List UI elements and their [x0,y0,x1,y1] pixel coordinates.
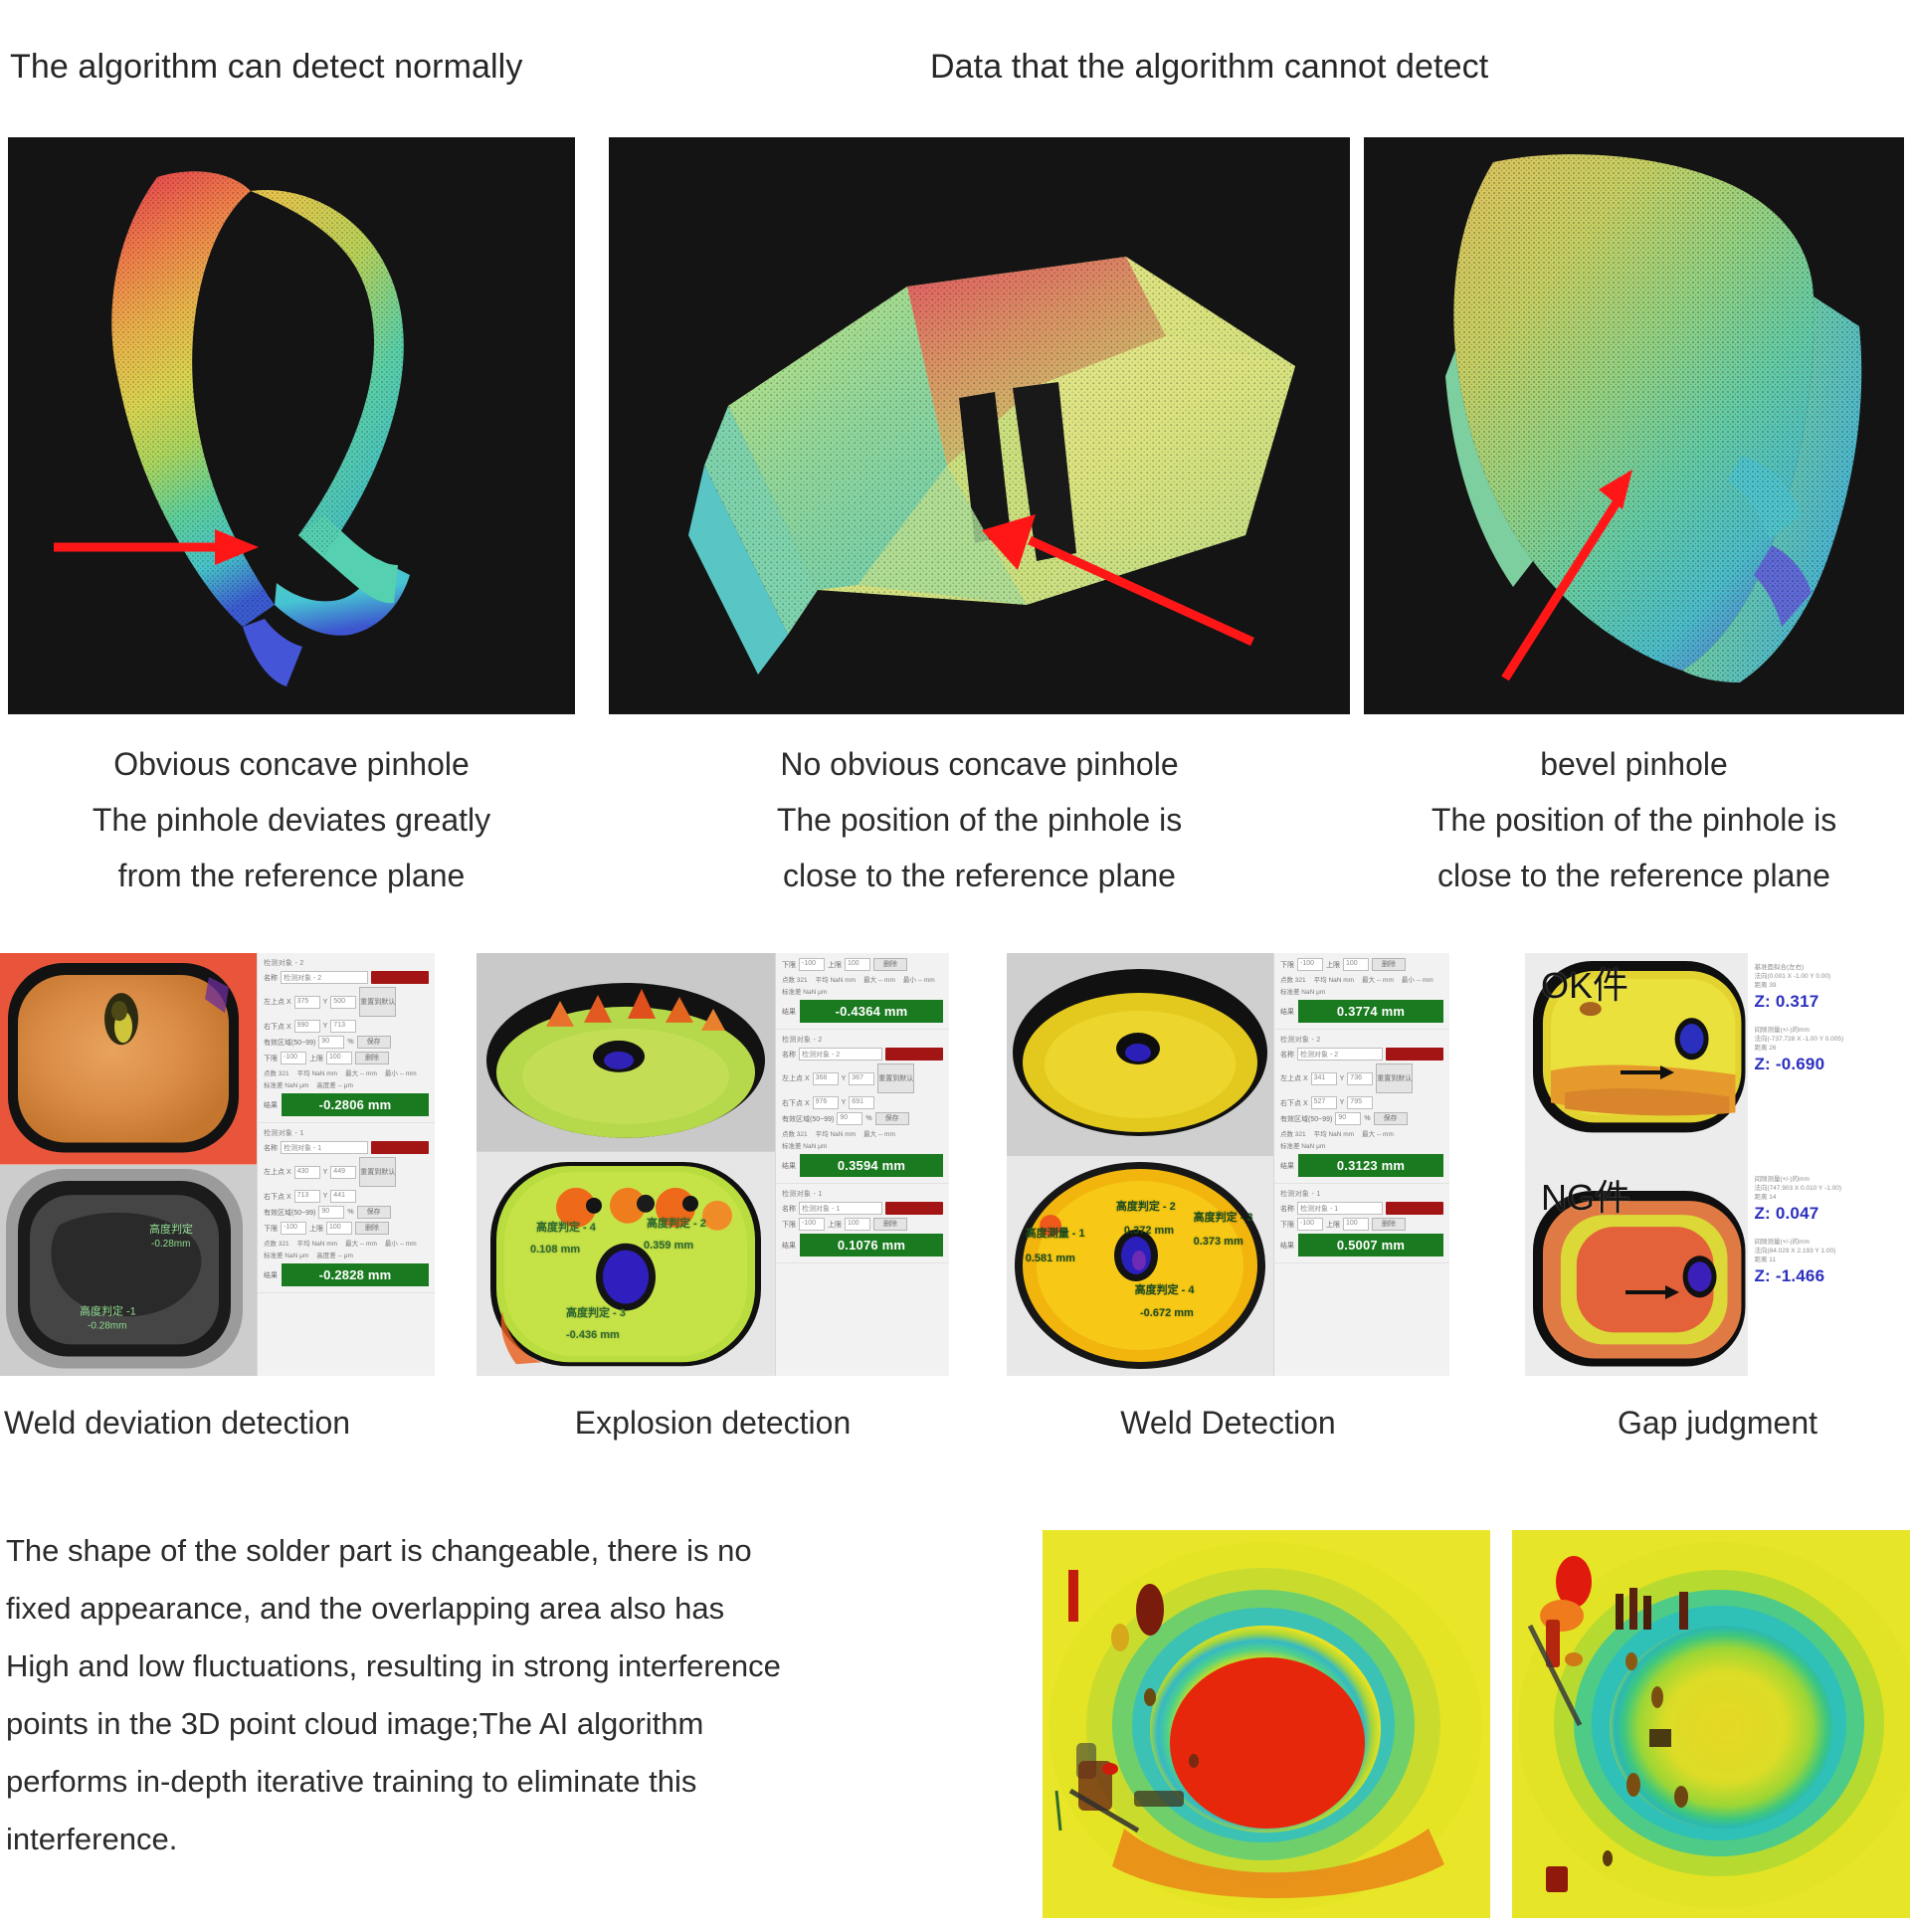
parameter-group: 下限 -100 上限 100 删除 点数 321 平均 NaN mm 最大 --… [1274,953,1449,1030]
field-label: 下限 [782,960,796,970]
weld-detection-3d-view [1007,953,1273,1156]
coord-y-input[interactable]: 367 [849,1072,874,1085]
stat: 点数 321 [264,1238,289,1248]
summary-paragraph: The shape of the solder part is changeab… [6,1522,1031,1868]
caption-weld-deviation-detection: Weld deviation detection [4,1405,439,1442]
caption-line: The position of the pinhole is [1364,792,1904,848]
gap-ng-image: NG件 [1525,1165,1748,1377]
name-input[interactable]: 检测对象 - 2 [281,971,368,984]
field-label: 名称 [782,1204,796,1214]
upper-limit-input[interactable]: 100 [1343,1218,1369,1231]
z-readout: 间隙测量(+/-)的mm 法向(747.903 X 0.010 Y -1.00)… [1754,1175,1904,1224]
upper-limit-input[interactable]: 100 [326,1052,352,1064]
reset-default-button[interactable]: 重置到默认 [1376,1063,1413,1093]
name-input[interactable]: 检测对象 - 1 [281,1141,368,1154]
result-label: 结果 [264,1100,278,1110]
overlay-value: 0.372 mm [1124,1225,1174,1237]
valid-area-input[interactable]: 90 [837,1112,862,1125]
z-number: 0.317 [1776,992,1819,1011]
reset-default-button[interactable]: 重置到默认 [359,1157,396,1187]
delete-button[interactable]: 删除 [1372,1218,1406,1231]
field-label: 下限 [782,1220,796,1230]
stat: 最大 -- mm [863,974,895,984]
caption-line: Obvious concave pinhole [8,736,575,792]
valid-area-input[interactable]: 90 [318,1036,344,1049]
black-arrow-icon-ng [1623,1283,1681,1301]
overlay-value: 0.373 mm [1194,1236,1243,1248]
stat: 平均 NaN mm [1314,974,1354,984]
parameter-group: 检测对象 - 2 名称 检测对象 - 2 左上点 X 368 Y 367 重置到… [776,1030,949,1184]
stat: 标准差 NaN μm [782,986,827,996]
caption-no-obvious-pinhole: No obvious concave pinhole The position … [609,736,1350,903]
field-label: Y [1340,1099,1345,1106]
result-value: -0.2828 mm [282,1263,429,1286]
coord-y-input[interactable]: 449 [330,1166,356,1179]
point-cloud-render-1 [8,137,575,714]
gap-ok-readouts: 基准面拟合(左右) 法向(0.001 X -1.00 Y 0.00) 距离 39… [1748,953,1910,1165]
field-label: 名称 [1280,1204,1294,1214]
stat: 标准差 NaN μm [782,1140,827,1150]
field-label: 右下点 X [1280,1098,1308,1108]
stat: 最小 -- mm [385,1067,417,1077]
z-readout: 基准面拟合(左右) 法向(0.001 X -1.00 Y 0.00) 距离 39… [1754,963,1904,1012]
summary-line: interference. [6,1811,1031,1868]
caption-line: close to the reference plane [609,848,1350,903]
overlay-value: 0.359 mm [644,1240,693,1252]
z-label: Z: [1754,1266,1770,1285]
summary-line: The shape of the solder part is changeab… [6,1522,1031,1580]
caption-line: The position of the pinhole is [609,792,1350,848]
status-badge-ng [371,971,429,984]
valid-area-label: 有效区域(50~99) [782,1114,834,1124]
caption-line: bevel pinhole [1364,736,1904,792]
valid-area-label: 有效区域(50~99) [264,1038,315,1048]
delete-button[interactable]: 删除 [355,1222,389,1235]
name-input[interactable]: 检测对象 - 2 [799,1048,882,1061]
z-label: Z: [1754,1055,1770,1073]
caption-line: No obvious concave pinhole [609,736,1350,792]
save-button[interactable]: 保存 [357,1036,391,1049]
delete-button[interactable]: 删除 [1372,958,1406,971]
z-meta: 法向(747.903 X 0.010 Y -1.00) [1754,1184,1904,1193]
heatmap-solder-ring-cool [1512,1530,1910,1918]
field-label: 左上点 X [264,997,291,1007]
z-meta: 法向(0.001 X -1.00 Y 0.00) [1754,972,1904,981]
z-readout: 间隙测量(+/-)的mm 法向(84.029 X 2.193 Y 1.00) 距… [1754,1238,1904,1286]
reset-default-button[interactable]: 重置到默认 [877,1063,914,1093]
status-badge-ng [885,1048,943,1061]
valid-area-label: 有效区域(50~99) [264,1208,315,1218]
coord-x2-input[interactable]: 527 [1311,1096,1337,1109]
overlay-label: 高度判定 - 2 [1116,1198,1176,1214]
field-label: 下限 [1280,1220,1294,1230]
coord-x-input[interactable]: 375 [294,996,320,1009]
gap-ng-readouts: 间隙测量(+/-)的mm 法向(747.903 X 0.010 Y -1.00)… [1748,1165,1910,1377]
delete-button[interactable]: 删除 [355,1052,389,1064]
point-cloud-row [8,137,1904,714]
field-label: Y [842,1075,847,1082]
heatmap-row [1035,1530,1910,1918]
z-readout: 间隙测量(+/-)的mm 法向(-737.728 X -1.00 Y 0.005… [1754,1026,1904,1074]
overlay-label: 高度测量 - 1 [1026,1225,1085,1241]
field-label: 右下点 X [264,1022,291,1032]
caption-weld-detection: Weld Detection [1007,1405,1449,1442]
parameter-group: 检测对象 - 1 名称 检测对象 - 1 下限 -100 上限 100 删除 [1274,1184,1449,1263]
stat: 点数 321 [1280,1128,1306,1138]
lower-limit-input[interactable]: -100 [281,1222,306,1235]
weld-gray-image: 高度判定 -0.28mm 高度判定 -1 -0.28mm [0,1165,257,1377]
caption-bevel-pinhole: bevel pinhole The position of the pinhol… [1364,736,1904,903]
stat: 平均 NaN mm [816,974,856,984]
point-cloud-render-2 [609,137,1350,714]
lower-limit-input[interactable]: -100 [799,958,825,971]
coord-y2-input[interactable]: 713 [330,1020,356,1033]
explosion-heatmap-view [477,1152,775,1376]
group-title: 检测对象 - 1 [1280,1189,1443,1199]
stat: 最小 -- mm [1402,974,1433,984]
heading-detectable: The algorithm can detect normally [10,48,522,87]
z-label: Z: [1754,1204,1770,1223]
svg-text:高度判定: 高度判定 [149,1222,193,1236]
field-label: 右下点 X [264,1192,291,1202]
upper-limit-input[interactable]: 100 [845,1218,870,1231]
field-label: 名称 [782,1050,796,1060]
status-badge-ng [885,1202,943,1215]
field-label: Y [323,1169,328,1176]
inspection-card-weld-detection: 高度测量 - 1 0.581 mm 高度判定 - 2 0.372 mm 高度判定… [1007,953,1449,1376]
field-label: 右下点 X [782,1098,810,1108]
upper-limit-label: 上限 [309,1224,323,1234]
name-input[interactable]: 检测对象 - 1 [799,1202,882,1215]
status-badge-ng [1386,1048,1443,1061]
caption-obvious-concave-pinhole: Obvious concave pinhole The pinhole devi… [8,736,575,903]
percent-unit: % [865,1115,871,1122]
summary-line: points in the 3D point cloud image;The A… [6,1695,1031,1753]
explosion-3d-view [477,953,775,1152]
overlay-value: 0.581 mm [1026,1253,1075,1264]
coord-y2-input[interactable]: 795 [1347,1096,1373,1109]
field-label: 左上点 X [264,1167,291,1177]
result-value: 0.1076 mm [800,1234,943,1256]
z-meta: 法向(-737.728 X -1.00 Y 0.005) [1754,1035,1904,1044]
field-label: Y [323,1023,328,1030]
weld-detection-heatmap-view [1007,1156,1273,1376]
parameter-group: 检测对象 - 1 名称 检测对象 - 1 左上点 X 430 Y 449 重置到… [258,1123,435,1293]
gap-block-ok: OK件 基准面拟合(左右) 法向(0.001 X -1.00 Y 0.00) 距… [1525,953,1910,1165]
inspection-card-gap-judgment: OK件 基准面拟合(左右) 法向(0.001 X -1.00 Y 0.00) 距… [1525,953,1910,1376]
field-label: 左上点 X [782,1073,810,1083]
result-label: 结果 [782,1007,796,1017]
gap-verdict-ng: NG件 [1541,1169,1630,1221]
field-label: 上限 [1326,960,1340,970]
gap-block-ng: NG件 间隙测量(+/-)的mm 法向(747.903 X 0.010 Y -1… [1525,1165,1910,1377]
result-value: -0.4364 mm [800,1000,943,1023]
overlay-label: 高度判定 - 4 [1135,1281,1195,1297]
inspection-card-row: 高度判定 -0.28mm 高度判定 -1 -0.28mm 检测对象 - 2 名称… [0,953,1910,1381]
inspection-card-weld-deviation-detection: 高度判定 -0.28mm 高度判定 -1 -0.28mm 检测对象 - 2 名称… [0,953,435,1376]
percent-unit: % [1364,1115,1370,1122]
result-value: 0.3774 mm [1298,1000,1443,1023]
stat: 平均 NaN mm [297,1067,337,1077]
overlay-value: 0.108 mm [530,1244,580,1256]
summary-line: High and low fluctuations, resulting in … [6,1638,1031,1695]
z-meta: 间隙测量(+/-)的mm [1754,1238,1904,1247]
name-input[interactable]: 检测对象 - 2 [1297,1048,1383,1061]
stat: 平均 NaN mm [1314,1128,1354,1138]
field-label: Y [323,1193,328,1200]
field-label: 名称 [1280,1050,1294,1060]
upper-limit-label: 上限 [309,1054,323,1063]
z-meta: 距离 14 [1754,1193,1904,1202]
result-value: 0.3123 mm [1298,1154,1443,1177]
coord-y2-input[interactable]: 441 [330,1190,356,1203]
stat: 点数 321 [782,1128,808,1138]
name-input[interactable]: 检测对象 - 1 [1297,1202,1383,1215]
stat: 点数 321 [1280,974,1306,984]
result-label: 结果 [782,1161,796,1171]
stat: 点数 321 [782,974,808,984]
caption-explosion-detection: Explosion detection [477,1405,949,1442]
field-label: Y [842,1099,847,1106]
upper-limit-input[interactable]: 100 [1343,958,1369,971]
z-number: 0.047 [1776,1204,1819,1223]
group-title: 检测对象 - 2 [782,1035,943,1045]
coord-x-input[interactable]: 368 [813,1072,839,1085]
field-label: 上限 [1326,1220,1340,1230]
row1-headings: The algorithm can detect normally Data t… [0,48,1910,99]
stat: 最小 -- mm [903,974,935,984]
heatmap-solder-ring-hot [1043,1530,1490,1918]
result-label: 结果 [1280,1241,1294,1251]
overlay-value: -0.436 mm [566,1329,620,1341]
z-meta: 距离 39 [1754,981,1904,990]
stat: 最大 -- mm [1362,1128,1394,1138]
lower-limit-label: 下限 [264,1054,278,1063]
z-number: -0.690 [1776,1055,1824,1073]
z-value-ng-1: Z: 0.047 [1754,1204,1904,1224]
field-label: 左上点 X [1280,1073,1308,1083]
gap-ok-image: OK件 [1525,953,1748,1165]
overlay-label: 高度判定 - 3 [566,1304,626,1320]
coord-y-input[interactable]: 500 [330,996,356,1009]
field-label: 名称 [264,1143,278,1153]
valid-area-input[interactable]: 90 [1335,1112,1361,1125]
stat: 高度差 -- μm [316,1079,353,1089]
z-label: Z: [1754,992,1770,1011]
svg-text:-0.28mm: -0.28mm [88,1320,126,1331]
field-label: 名称 [264,973,278,983]
point-cloud-no-obvious-pinhole [609,137,1350,714]
stat: 最大 -- mm [863,1128,895,1138]
coord-y-input[interactable]: 736 [1347,1072,1373,1085]
svg-text:高度判定 -1: 高度判定 -1 [80,1303,136,1317]
parameter-group: 检测对象 - 2 名称 检测对象 - 2 左上点 X 341 Y 736 重置到… [1274,1030,1449,1184]
point-cloud-render-3 [1364,137,1904,714]
stat: 标准差 NaN μm [1280,1140,1325,1150]
reset-default-button[interactable]: 重置到默认 [359,987,396,1017]
field-label: Y [323,999,328,1006]
parameter-group: 检测对象 - 2 名称 检测对象 - 2 左上点 X 375 Y 500 重置到… [258,953,435,1123]
z-meta: 距离 11 [1754,1256,1904,1264]
group-title: 检测对象 - 1 [782,1189,943,1199]
svg-text:-0.28mm: -0.28mm [151,1239,190,1250]
coord-x2-input[interactable]: 990 [294,1020,320,1033]
overlay-label: 高度判定 - 2 [647,1215,706,1231]
heading-undetectable: Data that the algorithm cannot detect [930,48,1488,87]
z-meta: 距离 26 [1754,1044,1904,1053]
result-label: 结果 [782,1241,796,1251]
slide-root: The algorithm can detect normally Data t… [0,0,1910,1932]
z-meta: 间隙测量(+/-)的mm [1754,1175,1904,1184]
z-value-ng-2: Z: -1.466 [1754,1266,1904,1286]
coord-y2-input[interactable]: 691 [849,1096,874,1109]
stat: 平均 NaN mm [816,1128,856,1138]
delete-button[interactable]: 删除 [873,958,907,971]
field-label: 上限 [828,960,842,970]
caption-gap-judgment: Gap judgment [1525,1405,1910,1442]
summary-line: performs in-depth iterative training to … [6,1753,1031,1811]
overlay-label: 高度判定 - 3 [1194,1209,1253,1225]
stat: 标准差 NaN μm [264,1079,308,1089]
heatmap-render-2 [1512,1530,1910,1918]
group-title: 检测对象 - 2 [1280,1035,1443,1045]
coord-x-input[interactable]: 430 [294,1166,320,1179]
coord-x-input[interactable]: 341 [1311,1072,1337,1085]
point-cloud-obvious-concave-pinhole [8,137,575,714]
caption-line: The pinhole deviates greatly [8,792,575,848]
group-title: 检测对象 - 1 [264,1128,429,1138]
z-number: -1.466 [1776,1266,1824,1285]
result-value: 0.3594 mm [800,1154,943,1177]
z-value-ok-1: Z: 0.317 [1754,992,1904,1012]
summary-line: fixed appearance, and the overlapping ar… [6,1580,1031,1638]
z-value-ok-2: Z: -0.690 [1754,1055,1904,1074]
result-label: 结果 [264,1270,278,1280]
parameter-group: 检测对象 - 1 名称 检测对象 - 1 下限 -100 上限 100 删除 [776,1184,949,1263]
save-button[interactable]: 保存 [357,1206,391,1219]
coord-x2-input[interactable]: 713 [294,1190,320,1203]
lower-limit-input[interactable]: -100 [1297,958,1323,971]
stat: 标准差 NaN μm [1280,986,1325,996]
group-title: 检测对象 - 2 [264,958,429,968]
black-arrow-icon-ok [1619,1063,1676,1081]
upper-limit-input[interactable]: 100 [845,958,870,971]
coord-x2-input[interactable]: 976 [813,1096,839,1109]
parameter-group: 下限 -100 上限 100 删除 点数 321 平均 NaN mm 最大 --… [776,953,949,1030]
caption-line: from the reference plane [8,848,575,903]
stat: 最小 -- mm [385,1238,417,1248]
delete-button[interactable]: 删除 [873,1218,907,1231]
stat: 平均 NaN mm [297,1238,337,1248]
valid-area-label: 有效区域(50~99) [1280,1114,1332,1124]
z-meta: 法向(84.029 X 2.193 Y 1.00) [1754,1247,1904,1256]
upper-limit-input[interactable]: 100 [326,1222,352,1235]
valid-area-input[interactable]: 90 [318,1206,344,1219]
heatmap-render-1 [1043,1530,1490,1918]
percent-unit: % [347,1039,353,1046]
save-button[interactable]: 保存 [1374,1112,1408,1125]
weld-color-image [0,953,257,1165]
stat: 最大 -- mm [1362,974,1394,984]
lower-limit-input[interactable]: -100 [799,1218,825,1231]
save-button[interactable]: 保存 [875,1112,909,1125]
percent-unit: % [347,1209,353,1216]
gap-verdict-ok: OK件 [1541,957,1628,1009]
result-label: 结果 [1280,1007,1294,1017]
lower-limit-input[interactable]: -100 [281,1052,306,1064]
result-label: 结果 [1280,1161,1294,1171]
z-meta: 间隙测量(+/-)的mm [1754,1026,1904,1035]
stat: 高度差 -- μm [316,1250,353,1259]
z-meta: 基准面拟合(左右) [1754,963,1904,972]
stat: 最大 -- mm [345,1238,377,1248]
point-cloud-bevel-pinhole [1364,137,1904,714]
field-label: Y [1340,1075,1345,1082]
overlay-label: 高度判定 - 4 [536,1219,596,1235]
overlay-value: -0.672 mm [1140,1307,1194,1319]
inspection-card-explosion-detection: 高度判定 - 4 0.108 mm 高度判定 - 2 0.359 mm 高度判定… [477,953,949,1376]
status-badge-ng [371,1141,429,1154]
lower-limit-label: 下限 [264,1224,278,1234]
stat: 点数 321 [264,1067,289,1077]
field-label: 上限 [828,1220,842,1230]
stat: 最大 -- mm [345,1067,377,1077]
lower-limit-input[interactable]: -100 [1297,1218,1323,1231]
stat: 标准差 NaN μm [264,1250,308,1259]
caption-line: close to the reference plane [1364,848,1904,903]
status-badge-ng [1386,1202,1443,1215]
field-label: 下限 [1280,960,1294,970]
result-value: -0.2806 mm [282,1093,429,1116]
result-value: 0.5007 mm [1298,1234,1443,1256]
